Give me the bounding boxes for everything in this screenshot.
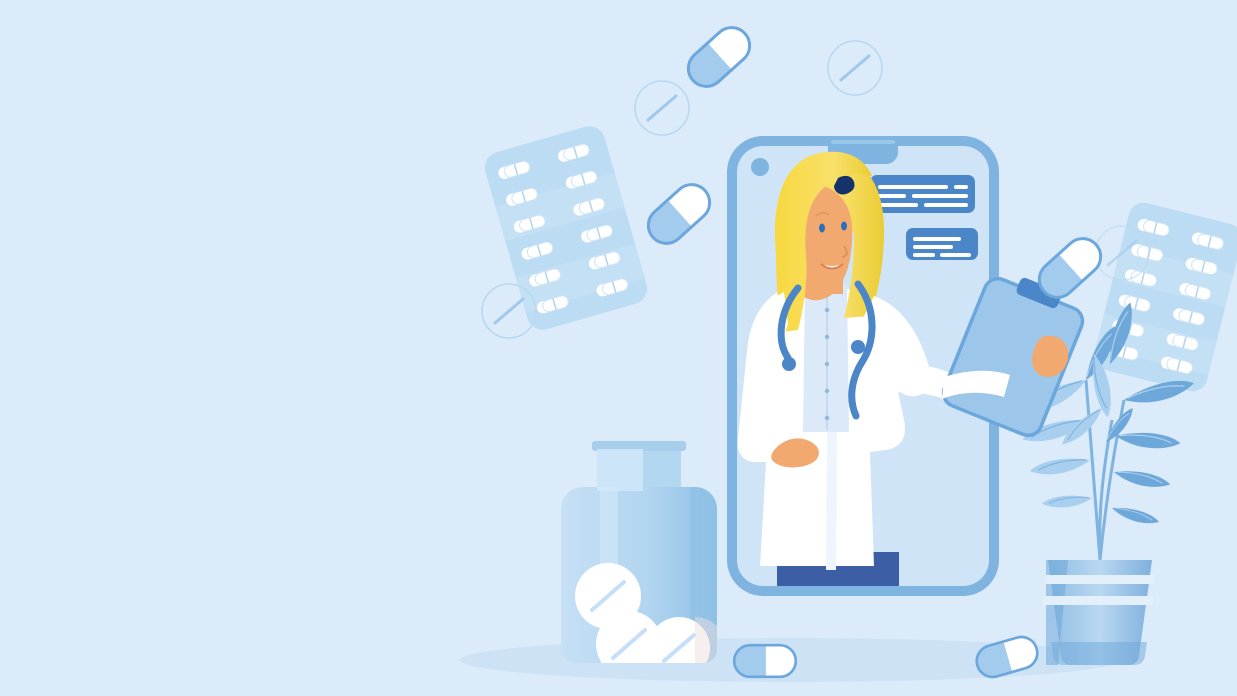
promo-banner: Safe and Effective Prescription of Contr…: [0, 0, 1237, 696]
phone-camera-icon: [751, 158, 769, 176]
illustration: [0, 0, 1237, 696]
capsule-bottom-left: [734, 645, 796, 677]
chat-bubble-bottom: [906, 228, 978, 260]
chat-bubble-top: [870, 175, 975, 213]
doctor-eye-left: [819, 224, 825, 233]
doctor-eye-right: [841, 222, 847, 231]
